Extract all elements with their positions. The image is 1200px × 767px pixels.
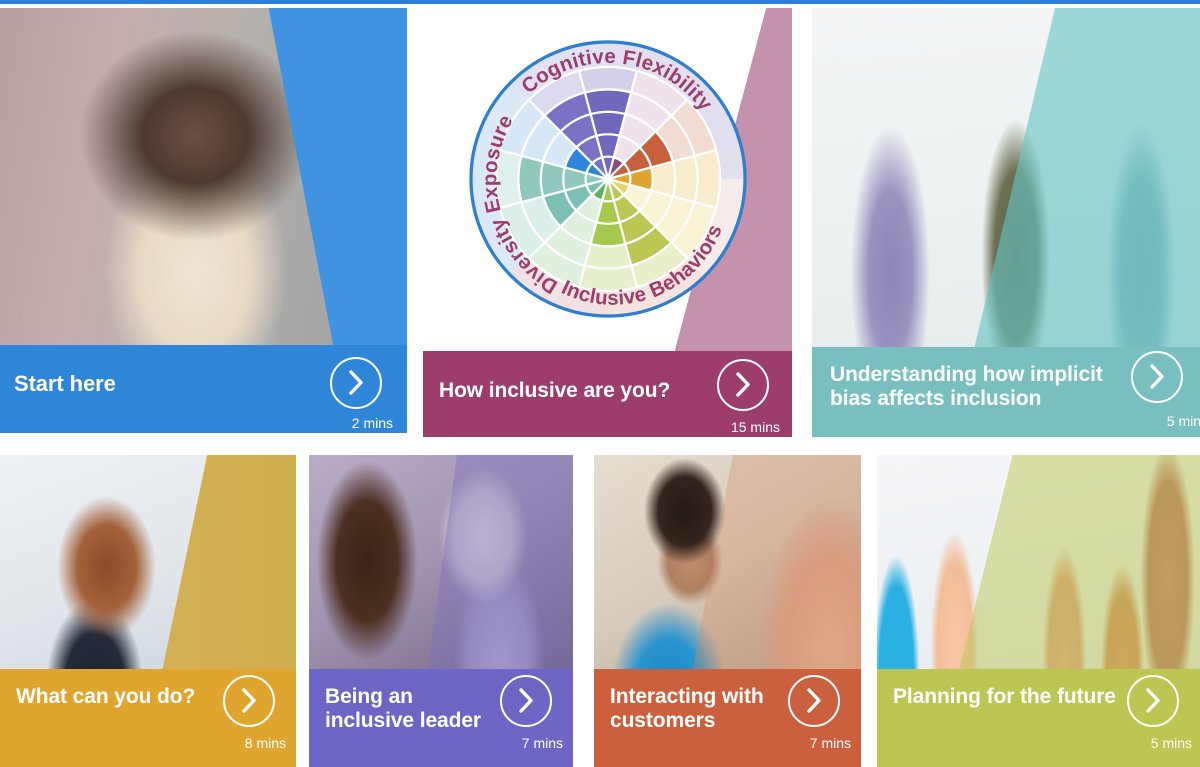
chevron-right-icon[interactable]	[223, 675, 275, 727]
chevron-right-icon[interactable]	[1131, 351, 1183, 403]
card-label-bar: Being an inclusive leader 7 mins	[309, 669, 573, 767]
course-card-planning-for-the-future[interactable]: Planning for the future 5 mins	[877, 455, 1200, 767]
course-card-what-can-you-do[interactable]: What can you do? 8 mins	[0, 455, 296, 767]
card-label-bar: Interacting with customers 7 mins	[594, 669, 861, 767]
course-card-how-inclusive-are-you[interactable]: Cognitive Flexibility Diversity Exposure…	[423, 8, 792, 437]
card-duration: 8 mins	[245, 735, 286, 751]
card-title: Planning for the future	[893, 669, 1116, 709]
radar-segment	[518, 156, 543, 202]
card-duration: 5 mins	[1151, 735, 1192, 751]
course-card-start-here[interactable]: Start here 2 mins	[0, 8, 407, 433]
radar-segment	[579, 67, 637, 92]
card-title: What can you do?	[16, 669, 212, 709]
card-label-bar: Start here 2 mins	[0, 345, 407, 433]
card-label-bar: Planning for the future 5 mins	[877, 669, 1200, 767]
card-label-bar: What can you do? 8 mins	[0, 669, 296, 767]
course-card-implicit-bias[interactable]: Understanding how implicit bias affects …	[812, 8, 1200, 437]
card-title: Understanding how implicit bias affects …	[830, 347, 1120, 412]
card-label-bar: How inclusive are you? 15 mins	[423, 351, 792, 437]
card-title: Interacting with customers	[610, 669, 777, 734]
course-card-inclusive-leader[interactable]: Being an inclusive leader 7 mins	[309, 455, 573, 767]
chevron-right-icon[interactable]	[788, 675, 840, 727]
radar-segment	[584, 89, 630, 114]
course-card-grid: Start here 2 mins	[0, 8, 1200, 767]
radar-segment	[694, 150, 719, 208]
card-duration: 7 mins	[810, 735, 851, 751]
card-label-bar: Understanding how implicit bias affects …	[812, 347, 1200, 437]
card-duration: 2 mins	[352, 415, 393, 431]
card-duration: 15 mins	[731, 419, 780, 435]
radar-segment	[584, 244, 630, 269]
chevron-right-icon[interactable]	[717, 359, 769, 411]
top-accent-bar	[0, 0, 1200, 4]
course-card-interacting-with-customers[interactable]: Interacting with customers 7 mins	[594, 455, 861, 767]
radar-segment	[672, 156, 697, 202]
card-duration: 5 mins	[1167, 413, 1200, 429]
card-title: How inclusive are you?	[439, 351, 706, 403]
card-duration: 7 mins	[522, 735, 563, 751]
chevron-right-icon[interactable]	[330, 357, 382, 409]
card-title: Being an inclusive leader	[325, 669, 489, 734]
chevron-right-icon[interactable]	[500, 675, 552, 727]
inclusion-radar-chart: Cognitive Flexibility Diversity Exposure…	[443, 14, 773, 344]
card-title: Start here	[14, 345, 319, 397]
chevron-right-icon[interactable]	[1127, 675, 1179, 727]
